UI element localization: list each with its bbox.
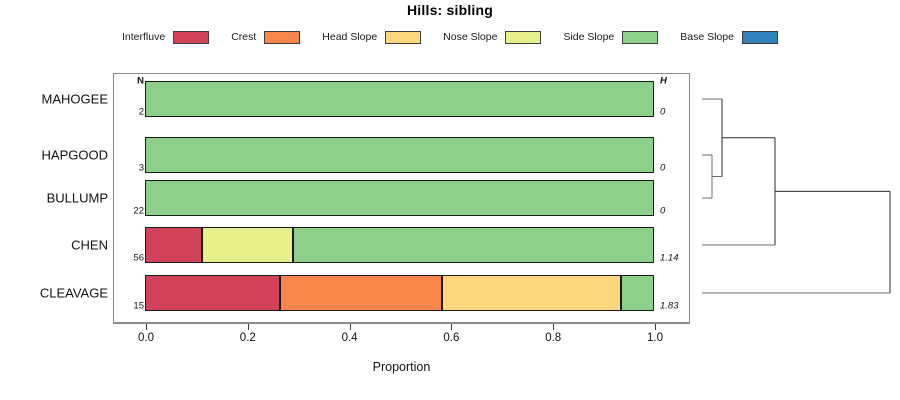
- legend-item[interactable]: Nose Slope: [443, 31, 541, 44]
- legend-item-label: Base Slope: [680, 31, 734, 43]
- legend-item-label: Head Slope: [322, 31, 377, 43]
- x-axis-tick: [146, 324, 147, 330]
- dendrogram: [690, 73, 900, 323]
- category-axis-labels: MAHOGEEHAPGOODBULLUMPCHENCLEAVAGE: [0, 73, 108, 323]
- stacked-bar[interactable]: [146, 81, 655, 117]
- legend-item[interactable]: Crest: [231, 31, 300, 44]
- x-axis-tick-label: 0.2: [240, 332, 256, 344]
- x-axis-tick: [248, 324, 249, 330]
- n-value: 2: [116, 107, 144, 118]
- h-value: 1.83: [660, 301, 688, 312]
- x-axis-tick-label: 0.0: [138, 332, 154, 344]
- x-axis-tick-label: 0.8: [545, 332, 561, 344]
- x-axis-tick: [655, 324, 656, 330]
- dendrogram-svg: [690, 73, 900, 323]
- x-axis-tick-label: 0.4: [342, 332, 358, 344]
- chart-root: Hills: sibling InterfluveCrestHead Slope…: [0, 0, 900, 400]
- category-label: CHEN: [0, 238, 108, 253]
- bar-segment[interactable]: [145, 81, 654, 117]
- stacked-bar[interactable]: [146, 227, 655, 263]
- legend-color-swatch: [173, 31, 209, 44]
- n-value: 22: [116, 206, 144, 217]
- legend-item-label: Interfluve: [122, 31, 165, 43]
- h-value: 0: [660, 163, 688, 174]
- bar-segment[interactable]: [145, 275, 279, 311]
- n-value: 15: [116, 301, 144, 312]
- legend-item-label: Nose Slope: [443, 31, 497, 43]
- bar-segment[interactable]: [145, 180, 654, 216]
- legend-color-swatch: [505, 31, 541, 44]
- legend-item[interactable]: Base Slope: [680, 31, 778, 44]
- bar-segment[interactable]: [202, 227, 293, 263]
- legend-item[interactable]: Side Slope: [563, 31, 658, 44]
- x-axis-title: Proportion: [113, 360, 690, 374]
- page-title: Hills: sibling: [0, 2, 900, 18]
- n-column-header: N: [116, 76, 144, 87]
- category-label: HAPGOOD: [0, 148, 108, 163]
- n-value: 56: [116, 253, 144, 264]
- legend-color-swatch: [742, 31, 778, 44]
- h-value: 1.14: [660, 253, 688, 264]
- legend-item[interactable]: Interfluve: [122, 31, 209, 44]
- h-value: 0: [660, 107, 688, 118]
- h-value: 0: [660, 206, 688, 217]
- category-label: MAHOGEE: [0, 92, 108, 107]
- x-axis: 0.00.20.40.60.81.0: [113, 323, 690, 325]
- legend-color-swatch: [264, 31, 300, 44]
- legend-item-label: Crest: [231, 31, 256, 43]
- legend-color-swatch: [622, 31, 658, 44]
- stacked-bar[interactable]: [146, 180, 655, 216]
- x-axis-tick-label: 1.0: [647, 332, 663, 344]
- x-axis-tick: [553, 324, 554, 330]
- legend-item[interactable]: Head Slope: [322, 31, 421, 44]
- x-axis-tick-label: 0.6: [443, 332, 459, 344]
- bar-segment[interactable]: [145, 227, 202, 263]
- category-label: BULLUMP: [0, 191, 108, 206]
- legend: InterfluveCrestHead SlopeNose SlopeSide …: [0, 27, 900, 47]
- x-axis-tick: [451, 324, 452, 330]
- bar-segment[interactable]: [442, 275, 621, 311]
- legend-item-label: Side Slope: [563, 31, 614, 43]
- bar-segment[interactable]: [145, 137, 654, 173]
- h-column-header: H: [660, 76, 688, 87]
- x-axis-tick: [350, 324, 351, 330]
- bar-segment[interactable]: [621, 275, 654, 311]
- n-value: 3: [116, 163, 144, 174]
- bar-segment[interactable]: [280, 275, 442, 311]
- legend-color-swatch: [385, 31, 421, 44]
- category-label: CLEAVAGE: [0, 286, 108, 301]
- bar-segment[interactable]: [293, 227, 654, 263]
- stacked-bar[interactable]: [146, 275, 655, 311]
- stacked-bar[interactable]: [146, 137, 655, 173]
